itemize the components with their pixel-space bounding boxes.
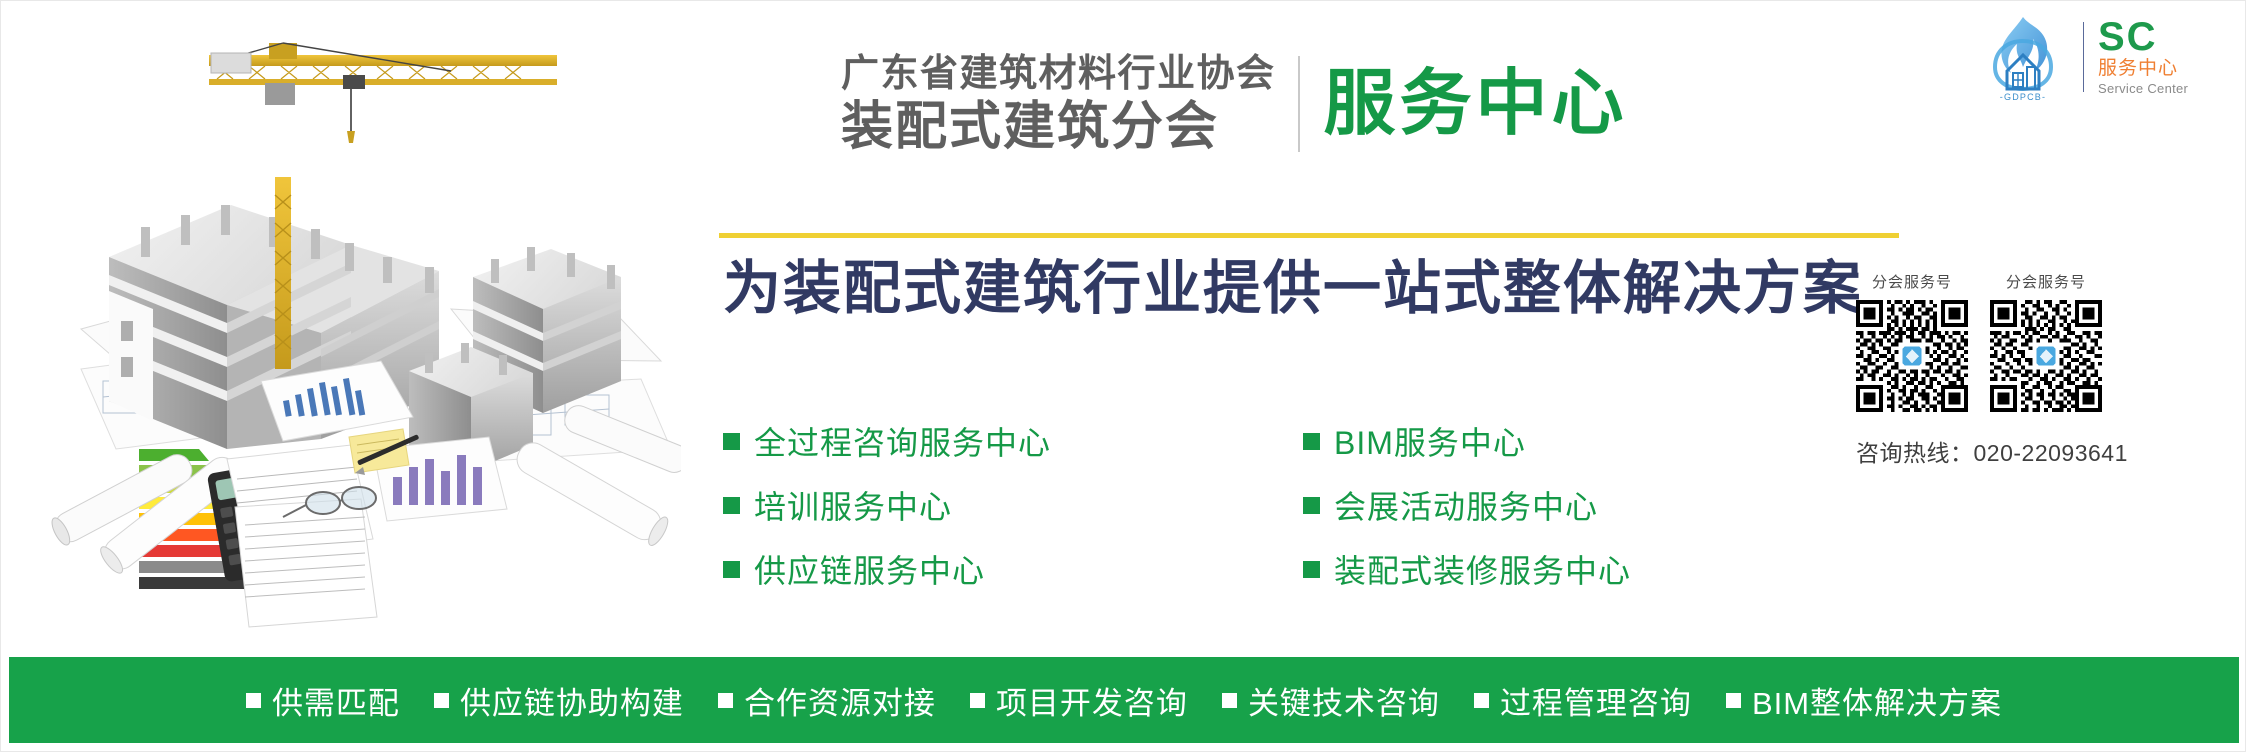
svg-text:-GDPCB-: -GDPCB- xyxy=(2000,92,2046,102)
square-bullet-icon xyxy=(723,497,740,514)
capability-item-xiangmukaifa[interactable]: 项目开发咨询 xyxy=(970,678,1188,723)
service-center-lists: 全过程咨询服务中心 培训服务中心 供应链服务中心 BIM服务中心 会展活动服务中… xyxy=(723,409,1783,601)
qr-caption-right: 分会服务号 xyxy=(1990,271,2102,292)
service-item-huizhan[interactable]: 会展活动服务中心 xyxy=(1303,473,1783,537)
qr-and-hotline-area: 分会服务号 xyxy=(1856,271,2196,468)
square-bullet-icon xyxy=(434,693,449,708)
capability-item-hezuoziyuan[interactable]: 合作资源对接 xyxy=(718,678,936,723)
square-bullet-icon xyxy=(723,561,740,578)
logo-wordmark: SC 服务中心 Service Center xyxy=(2098,17,2188,97)
capability-label: 供需匹配 xyxy=(272,678,400,723)
service-item-label: 全过程咨询服务中心 xyxy=(754,418,1051,464)
service-center-heading: 服务中心 xyxy=(1324,63,1628,145)
capability-label: 过程管理咨询 xyxy=(1500,678,1692,723)
qr-code-pair: 分会服务号 xyxy=(1856,271,2196,412)
square-bullet-icon xyxy=(1222,693,1237,708)
promo-banner: 广东省建筑材料行业协会 装配式建筑分会 服务中心 为装配式建筑行业提供一站式整体… xyxy=(0,0,2246,752)
square-bullet-icon xyxy=(1303,497,1320,514)
gold-divider-rule xyxy=(719,233,1899,238)
square-bullet-icon xyxy=(970,693,985,708)
qr-caption-left: 分会服务号 xyxy=(1856,271,1968,292)
qr-code-icon[interactable] xyxy=(1990,300,2102,412)
flame-house-logo-icon: -GDPCB- xyxy=(1977,11,2069,103)
page-tagline: 为装配式建筑行业提供一站式整体解决方案 xyxy=(723,253,1953,325)
service-list-left-column: 全过程咨询服务中心 培训服务中心 供应链服务中心 xyxy=(723,409,1303,601)
sticky-note-icon xyxy=(349,429,409,473)
service-list-right-column: BIM服务中心 会展活动服务中心 装配式装修服务中心 xyxy=(1303,409,1783,601)
service-item-quanguocheng[interactable]: 全过程咨询服务中心 xyxy=(723,409,1303,473)
service-item-bim[interactable]: BIM服务中心 xyxy=(1303,409,1783,473)
hero-illustration-svg xyxy=(21,9,681,639)
association-branch-name: 装配式建筑分会 xyxy=(841,97,1276,157)
capability-item-guanjianjishu[interactable]: 关键技术咨询 xyxy=(1222,678,1440,723)
capability-label: 关键技术咨询 xyxy=(1248,678,1440,723)
logo-vertical-divider xyxy=(2083,22,2084,92)
service-item-label: 会展活动服务中心 xyxy=(1334,482,1598,528)
qr-code-icon[interactable] xyxy=(1856,300,1968,412)
logo-english-text: Service Center xyxy=(2098,81,2188,97)
service-item-label: 培训服务中心 xyxy=(754,482,952,528)
association-name-block: 广东省建筑材料行业协会 装配式建筑分会 xyxy=(841,51,1298,157)
header-titles: 广东省建筑材料行业协会 装配式建筑分会 服务中心 xyxy=(841,49,1951,159)
capability-label: BIM整体解决方案 xyxy=(1752,678,2002,723)
capability-item-guochengguanli[interactable]: 过程管理咨询 xyxy=(1474,678,1692,723)
square-bullet-icon xyxy=(1474,693,1489,708)
square-bullet-icon xyxy=(1726,693,1741,708)
capability-item-gongxupipei[interactable]: 供需匹配 xyxy=(246,678,400,723)
service-item-label: 装配式装修服务中心 xyxy=(1334,546,1631,592)
construction-building-model-image xyxy=(21,9,681,639)
square-bullet-icon xyxy=(718,693,733,708)
logo-chinese-text: 服务中心 xyxy=(2098,57,2188,81)
square-bullet-icon xyxy=(246,693,261,708)
bottom-capability-bar: 供需匹配 供应链协助构建 合作资源对接 项目开发咨询 关键技术咨询 过程管理咨询… xyxy=(9,657,2239,743)
association-name-line1: 广东省建筑材料行业协会 xyxy=(841,51,1276,97)
capability-item-gongyinglian[interactable]: 供应链协助构建 xyxy=(434,678,684,723)
logo-sc-text: SC xyxy=(2098,17,2188,57)
capability-item-bim[interactable]: BIM整体解决方案 xyxy=(1726,678,2002,723)
service-item-zhuangxiu[interactable]: 装配式装修服务中心 xyxy=(1303,537,1783,601)
capability-label: 合作资源对接 xyxy=(744,678,936,723)
square-bullet-icon xyxy=(1303,561,1320,578)
capability-label: 供应链协助构建 xyxy=(460,678,684,723)
service-item-peixun[interactable]: 培训服务中心 xyxy=(723,473,1303,537)
qr-block-right: 分会服务号 xyxy=(1990,271,2102,412)
service-item-gongyinglian[interactable]: 供应链服务中心 xyxy=(723,537,1303,601)
service-item-label: BIM服务中心 xyxy=(1334,418,1526,464)
square-bullet-icon xyxy=(723,433,740,450)
brand-logo[interactable]: -GDPCB- SC 服务中心 Service Center xyxy=(1977,9,2227,105)
square-bullet-icon xyxy=(1303,433,1320,450)
service-item-label: 供应链服务中心 xyxy=(754,546,985,592)
qr-block-left: 分会服务号 xyxy=(1856,271,1968,412)
header-vertical-divider xyxy=(1298,56,1300,152)
capability-label: 项目开发咨询 xyxy=(996,678,1188,723)
hotline-text: 咨询热线：020-22093641 xyxy=(1856,434,2196,468)
